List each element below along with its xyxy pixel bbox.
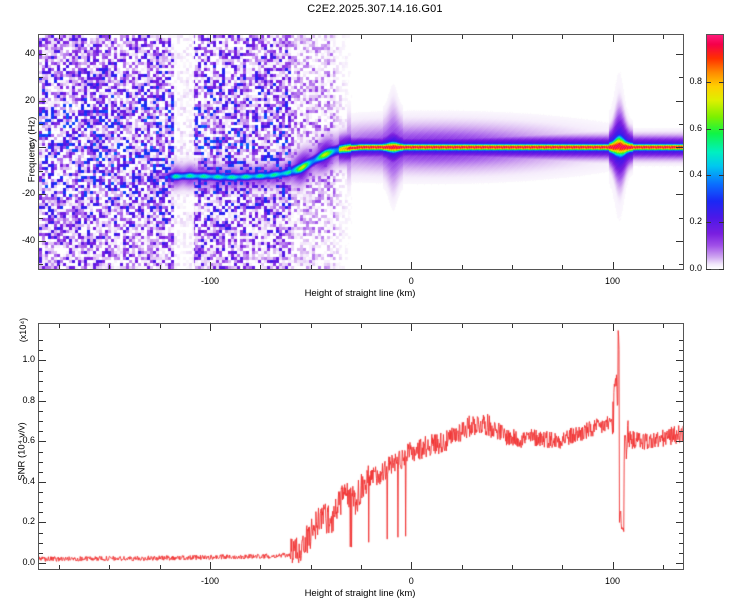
axis-tick xyxy=(562,324,563,328)
axis-tick xyxy=(512,565,513,569)
axis-tick xyxy=(39,340,43,341)
axis-tick xyxy=(260,265,261,269)
axis-tick xyxy=(59,565,60,569)
axis-tick xyxy=(706,82,711,83)
axis-tick xyxy=(706,269,711,270)
axis-tick xyxy=(39,431,43,432)
axis-tick xyxy=(562,265,563,269)
axis-tick-label: -40 xyxy=(0,235,35,245)
axis-tick-label: -100 xyxy=(180,576,240,586)
figure-title: C2E2.2025.307.14.16.G01 xyxy=(0,3,750,15)
axis-tick xyxy=(676,360,683,361)
axis-tick xyxy=(210,35,211,42)
axis-tick-label: 0 xyxy=(381,576,441,586)
axis-tick xyxy=(39,371,43,372)
snr-plot-area xyxy=(39,324,683,569)
axis-tick xyxy=(706,222,711,223)
axis-tick xyxy=(160,565,161,569)
axis-tick xyxy=(361,324,362,328)
spectrogram-y-axis-label: Frequency (Hz) xyxy=(27,90,38,210)
axis-tick xyxy=(512,265,513,269)
axis-tick xyxy=(462,324,463,328)
axis-tick xyxy=(39,194,46,195)
axis-tick xyxy=(719,222,724,223)
axis-tick xyxy=(676,563,683,564)
axis-tick xyxy=(39,147,46,148)
snr-x-axis-label: Height of straight line (km) xyxy=(200,588,520,599)
axis-tick xyxy=(411,324,412,331)
axis-tick xyxy=(679,421,683,422)
axis-tick xyxy=(39,492,43,493)
axis-tick xyxy=(676,194,683,195)
axis-tick xyxy=(39,522,46,523)
axis-tick xyxy=(39,411,43,412)
axis-tick xyxy=(663,265,664,269)
figure-root: C2E2.2025.307.14.16.G01 -1000100-40-2002… xyxy=(0,0,750,600)
spectrogram-x-axis-label: Height of straight line (km) xyxy=(200,288,520,299)
axis-tick xyxy=(679,502,683,503)
axis-tick xyxy=(676,441,683,442)
axis-tick xyxy=(679,543,683,544)
axis-tick xyxy=(706,175,711,176)
axis-tick xyxy=(39,452,43,453)
axis-tick xyxy=(361,265,362,269)
axis-tick xyxy=(39,553,43,554)
axis-tick xyxy=(210,562,211,569)
axis-tick xyxy=(676,147,683,148)
axis-tick xyxy=(462,265,463,269)
axis-tick xyxy=(39,350,43,351)
axis-tick xyxy=(39,421,43,422)
spectrogram-plot-area xyxy=(39,35,683,269)
axis-tick xyxy=(361,35,362,39)
axis-tick xyxy=(679,472,683,473)
axis-tick xyxy=(109,324,110,328)
axis-tick xyxy=(679,381,683,382)
axis-tick xyxy=(613,262,614,269)
axis-tick xyxy=(39,124,43,125)
axis-tick xyxy=(39,241,46,242)
axis-tick xyxy=(260,565,261,569)
axis-tick xyxy=(679,391,683,392)
axis-tick xyxy=(109,565,110,569)
axis-tick xyxy=(719,175,724,176)
axis-tick xyxy=(663,324,664,328)
axis-tick xyxy=(679,533,683,534)
axis-tick xyxy=(676,522,683,523)
axis-tick xyxy=(39,441,46,442)
axis-tick xyxy=(679,431,683,432)
axis-tick xyxy=(676,241,683,242)
axis-tick xyxy=(260,324,261,328)
axis-tick xyxy=(59,324,60,328)
snr-panel xyxy=(38,323,684,570)
axis-tick xyxy=(39,101,46,102)
axis-tick xyxy=(39,171,43,172)
spectrogram-panel xyxy=(38,34,684,270)
axis-tick xyxy=(39,462,43,463)
axis-tick xyxy=(311,265,312,269)
axis-tick xyxy=(260,35,261,39)
axis-tick-label: 100 xyxy=(583,576,643,586)
axis-tick xyxy=(210,324,211,331)
axis-tick xyxy=(706,129,711,130)
axis-tick xyxy=(311,565,312,569)
axis-tick xyxy=(679,462,683,463)
axis-tick xyxy=(109,35,110,39)
axis-tick-label: 0.0 xyxy=(666,263,702,273)
axis-tick-label: 0 xyxy=(381,276,441,286)
axis-tick xyxy=(39,512,43,513)
axis-tick xyxy=(39,563,46,564)
snr-y-exponent-label: (x10⁴) xyxy=(18,300,28,360)
axis-tick xyxy=(59,35,60,39)
axis-tick xyxy=(39,502,43,503)
axis-tick-label: 0.0 xyxy=(0,557,35,567)
axis-tick-label: 0.8 xyxy=(666,76,702,86)
axis-tick xyxy=(361,565,362,569)
axis-tick xyxy=(160,324,161,328)
axis-tick xyxy=(663,565,664,569)
axis-tick xyxy=(462,35,463,39)
axis-tick xyxy=(39,54,46,55)
axis-tick xyxy=(411,562,412,569)
axis-tick-label: 0.6 xyxy=(666,123,702,133)
axis-tick xyxy=(39,360,46,361)
axis-tick xyxy=(719,129,724,130)
axis-tick xyxy=(676,101,683,102)
axis-tick xyxy=(676,482,683,483)
axis-tick xyxy=(679,492,683,493)
axis-tick xyxy=(676,54,683,55)
axis-tick xyxy=(39,482,46,483)
axis-tick xyxy=(39,264,43,265)
axis-tick xyxy=(613,562,614,569)
axis-tick xyxy=(719,269,724,270)
axis-tick xyxy=(512,35,513,39)
axis-tick xyxy=(613,324,614,331)
axis-tick xyxy=(39,381,43,382)
axis-tick-label: 100 xyxy=(583,276,643,286)
axis-tick xyxy=(663,35,664,39)
axis-tick xyxy=(39,218,43,219)
axis-tick xyxy=(39,543,43,544)
axis-tick xyxy=(109,265,110,269)
axis-tick xyxy=(160,35,161,39)
axis-tick xyxy=(39,472,43,473)
axis-tick xyxy=(411,35,412,42)
axis-tick xyxy=(39,401,46,402)
axis-tick-label: 0.2 xyxy=(666,216,702,226)
axis-tick xyxy=(411,262,412,269)
axis-tick xyxy=(613,35,614,42)
axis-tick-label: -100 xyxy=(180,276,240,286)
colorbar-gradient xyxy=(706,34,724,270)
spectrogram-image xyxy=(39,35,683,269)
axis-tick-label: 0.4 xyxy=(666,169,702,179)
axis-tick xyxy=(679,340,683,341)
axis-tick xyxy=(311,324,312,328)
axis-tick xyxy=(679,350,683,351)
snr-trace xyxy=(39,324,683,569)
axis-tick xyxy=(562,35,563,39)
axis-tick xyxy=(512,324,513,328)
axis-tick xyxy=(39,533,43,534)
axis-tick xyxy=(562,565,563,569)
axis-tick xyxy=(210,262,211,269)
axis-tick-label: 0.2 xyxy=(0,516,35,526)
axis-tick-label: 40 xyxy=(0,48,35,58)
axis-tick xyxy=(679,371,683,372)
snr-y-axis-label: SNR (10⁴ v/v) xyxy=(17,392,28,512)
axis-tick xyxy=(679,452,683,453)
axis-tick xyxy=(719,82,724,83)
axis-tick xyxy=(679,512,683,513)
axis-tick xyxy=(160,265,161,269)
axis-tick xyxy=(676,401,683,402)
axis-tick xyxy=(39,77,43,78)
axis-tick xyxy=(462,565,463,569)
axis-tick xyxy=(679,411,683,412)
axis-tick xyxy=(311,35,312,39)
axis-tick xyxy=(39,391,43,392)
axis-tick xyxy=(679,553,683,554)
axis-tick xyxy=(59,265,60,269)
